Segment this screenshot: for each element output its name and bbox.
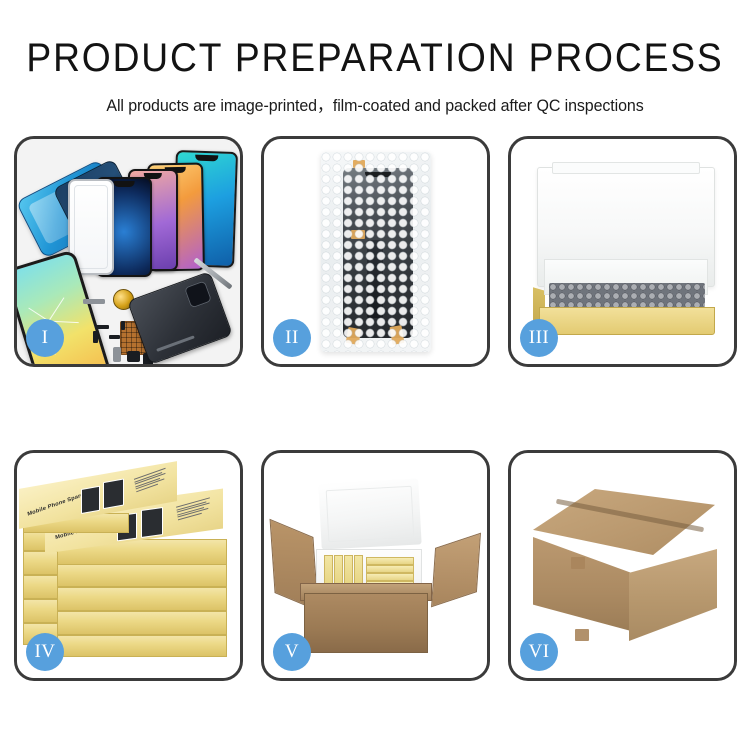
product-photo-print-icon (103, 478, 124, 509)
process-step-panel-3[interactable]: III (508, 136, 737, 367)
bubble-wrap-pack-icon (321, 152, 431, 352)
page-header: PRODUCT PREPARATION PROCESS All products… (0, 0, 750, 116)
spare-part-icon (113, 347, 121, 362)
spare-part-icon (109, 335, 120, 339)
process-step-panel-6[interactable]: VI (508, 450, 737, 681)
spare-part-icon (121, 321, 125, 330)
packing-tape-icon (575, 629, 589, 641)
foam-lid-icon (318, 478, 421, 549)
retail-box-icon (57, 587, 227, 611)
process-step-panel-2[interactable]: II (261, 136, 490, 367)
panel-5-badge: V (273, 633, 311, 671)
spare-part-icon (83, 299, 105, 304)
box-front-panel-icon (539, 307, 715, 335)
page-subtitle: All products are image-printed，film-coat… (11, 92, 739, 116)
process-panel-grid: I II III (14, 136, 736, 681)
shipping-carton-icon (304, 593, 428, 653)
panel-3-badge: III (520, 319, 558, 357)
panel-1-badge: I (26, 319, 64, 357)
retail-box-icon (57, 635, 227, 657)
packing-tape-icon (571, 557, 585, 569)
spare-part-icon (127, 351, 140, 362)
spare-part-icon (95, 325, 109, 329)
panel-4-badge: IV (26, 633, 64, 671)
bubble-wrapped-contents-icon (549, 283, 705, 309)
spare-part-icon (93, 331, 98, 343)
panel-2-badge: II (273, 319, 311, 357)
retail-box-icon (57, 611, 227, 635)
label-spec-lines (134, 466, 172, 493)
process-step-panel-4[interactable]: Mobile Phone Spare Parts Mobile Phone Sp… (14, 450, 243, 681)
page-title: PRODUCT PREPARATION PROCESS (26, 38, 724, 78)
panel-6-badge: VI (520, 633, 558, 671)
label-spec-lines (176, 496, 216, 522)
process-step-panel-1[interactable]: I (14, 136, 243, 367)
process-step-panel-5[interactable]: V (261, 450, 490, 681)
product-photo-print-icon (141, 507, 163, 538)
retail-box-icon (57, 563, 227, 587)
product-photo-print-icon (81, 486, 100, 514)
